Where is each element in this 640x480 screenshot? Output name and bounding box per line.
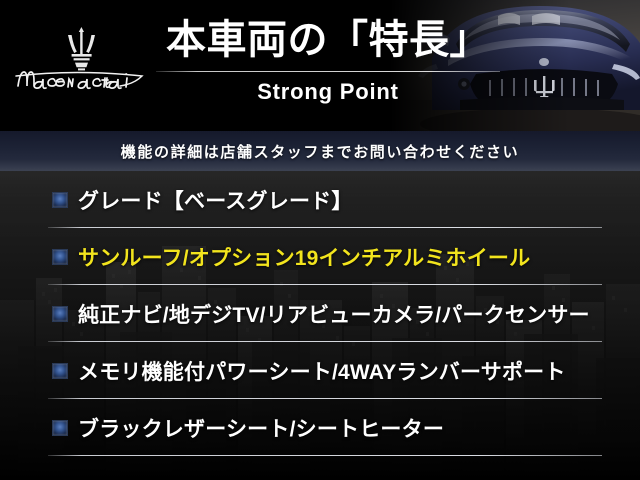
blue-square-bullet-icon (52, 249, 68, 265)
list-item-label: サンルーフ/オプション19インチアルミホイール (78, 242, 630, 272)
maserati-wordmark (16, 72, 142, 88)
maserati-trident-icon (68, 27, 95, 70)
list-item-label: メモリ機能付パワーシート/4WAYランバーサポート (78, 356, 630, 386)
header-banner: 本車両の「特長」 Strong Point (0, 0, 640, 131)
list-item-label: グレード【ベースグレード】 (78, 185, 630, 215)
title-divider (156, 71, 500, 72)
list-item-label: 純正ナビ/地デジTV/リアビューカメラ/パークセンサー (78, 299, 630, 329)
blue-square-bullet-icon (52, 363, 68, 379)
blue-square-bullet-icon (52, 192, 68, 208)
header-title-block: 本車両の「特長」 Strong Point (152, 16, 504, 107)
slide-canvas: 本車両の「特長」 Strong Point 機能の詳細は店舗スタッフまでお問い合… (0, 0, 640, 480)
brand-logo (8, 24, 156, 96)
notice-band: 機能の詳細は店舗スタッフまでお問い合わせください (0, 131, 640, 171)
page-subtitle: Strong Point (152, 77, 504, 107)
feature-list: グレード【ベースグレード】 サンルーフ/オプション19インチアルミホイール 純正… (0, 171, 640, 456)
list-item: サンルーフ/オプション19インチアルミホイール (0, 228, 640, 285)
blue-square-bullet-icon (52, 306, 68, 322)
list-item: 純正ナビ/地デジTV/リアビューカメラ/パークセンサー (0, 285, 640, 342)
page-title: 本車両の「特長」 (152, 16, 504, 64)
row-divider (48, 455, 602, 456)
blue-square-bullet-icon (52, 420, 68, 436)
list-item: グレード【ベースグレード】 (0, 171, 640, 228)
list-item: メモリ機能付パワーシート/4WAYランバーサポート (0, 342, 640, 399)
list-item: ブラックレザーシート/シートヒーター (0, 399, 640, 456)
notice-text: 機能の詳細は店舗スタッフまでお問い合わせください (121, 141, 519, 162)
list-item-label: ブラックレザーシート/シートヒーター (78, 413, 630, 443)
